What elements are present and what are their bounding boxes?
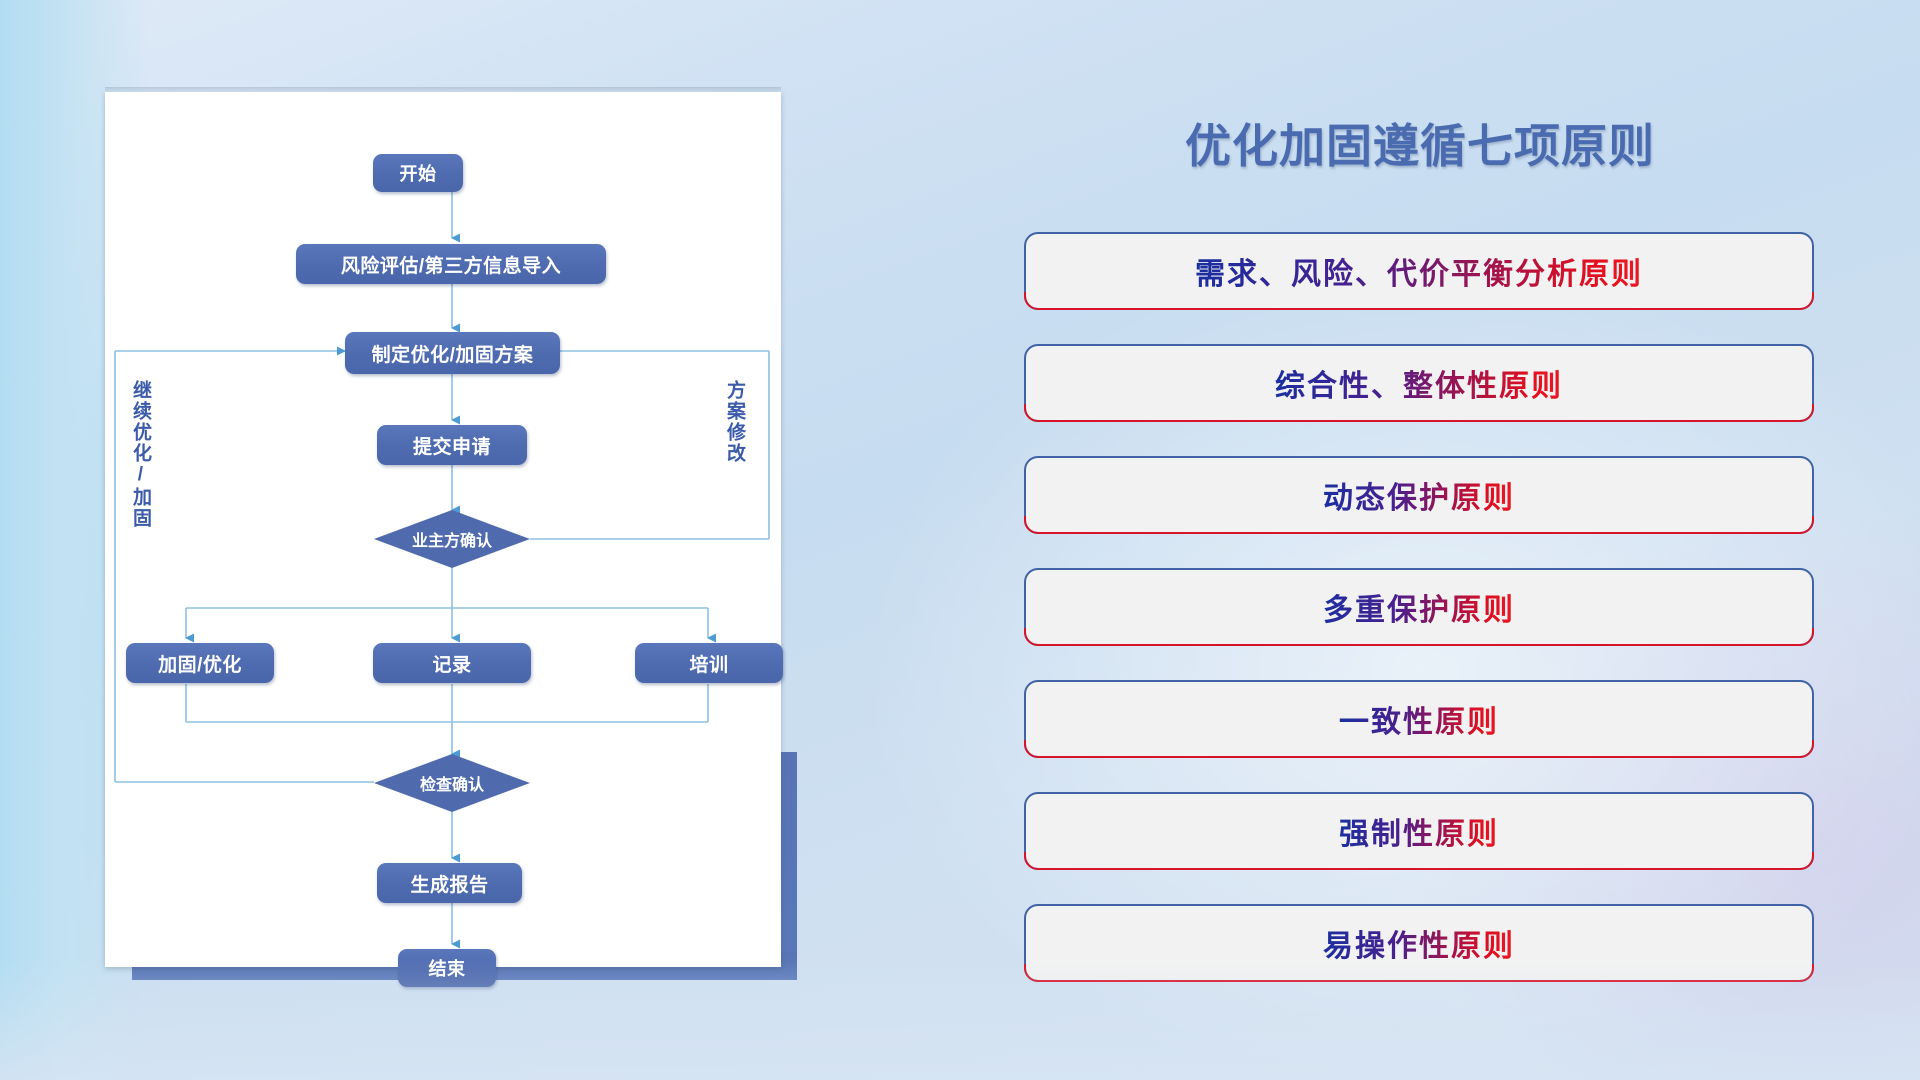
principle-label: 多重保护原则 <box>1323 585 1515 629</box>
flow-node-owner-confirm[interactable]: 业主方确认 <box>374 510 530 568</box>
flow-node-label: 制定优化/加固方案 <box>372 340 534 367</box>
edge-label-continue-optimize: 继续优化/加固 <box>130 380 150 529</box>
principle-item[interactable]: 需求、风险、代价平衡分析原则 <box>1024 232 1814 310</box>
flow-node-label: 加固/优化 <box>158 650 242 677</box>
principle-label: 易操作性原则 <box>1323 921 1515 965</box>
flow-node-label: 培训 <box>689 650 728 677</box>
principle-label: 综合性、整体性原则 <box>1275 361 1563 405</box>
flow-node-label: 开始 <box>400 160 437 186</box>
flowchart-card: 开始 风险评估/第三方信息导入 制定优化/加固方案 提交申请 业主方确认 加固/… <box>105 92 781 967</box>
edge-label-plan-revision: 方案修改 <box>724 380 744 464</box>
principles-list: 需求、风险、代价平衡分析原则 综合性、整体性原则 动态保护原则 多重保护原则 一… <box>1024 232 1814 1016</box>
principles-panel-title: 优化加固遵循七项原则 <box>1020 110 1820 176</box>
principle-label: 需求、风险、代价平衡分析原则 <box>1195 249 1643 293</box>
flow-node-reinforce-optimize[interactable]: 加固/优化 <box>126 643 274 683</box>
flow-node-training[interactable]: 培训 <box>635 643 783 683</box>
flow-node-end[interactable]: 结束 <box>398 949 496 987</box>
flow-node-risk-assessment[interactable]: 风险评估/第三方信息导入 <box>296 244 606 284</box>
flow-node-check-confirm[interactable]: 检查确认 <box>374 754 530 812</box>
flowchart: 开始 风险评估/第三方信息导入 制定优化/加固方案 提交申请 业主方确认 加固/… <box>105 92 781 967</box>
flow-node-label: 风险评估/第三方信息导入 <box>341 251 561 278</box>
principle-item[interactable]: 易操作性原则 <box>1024 904 1814 982</box>
flow-node-generate-report[interactable]: 生成报告 <box>377 863 522 903</box>
principle-label: 动态保护原则 <box>1323 473 1515 517</box>
principle-item[interactable]: 多重保护原则 <box>1024 568 1814 646</box>
slide-background: 开始 风险评估/第三方信息导入 制定优化/加固方案 提交申请 业主方确认 加固/… <box>0 0 1920 1080</box>
principle-item[interactable]: 一致性原则 <box>1024 680 1814 758</box>
flow-node-label: 检查确认 <box>420 771 484 795</box>
principle-item[interactable]: 综合性、整体性原则 <box>1024 344 1814 422</box>
flow-node-label: 记录 <box>432 650 471 677</box>
principle-label: 强制性原则 <box>1339 809 1499 853</box>
flow-node-label: 提交申请 <box>413 432 491 459</box>
flow-node-record[interactable]: 记录 <box>373 643 531 683</box>
flow-node-submit-application[interactable]: 提交申请 <box>377 425 527 465</box>
principle-label: 一致性原则 <box>1339 697 1499 741</box>
flow-node-label: 生成报告 <box>410 870 488 897</box>
principle-item[interactable]: 动态保护原则 <box>1024 456 1814 534</box>
flow-node-label: 结束 <box>429 955 466 981</box>
flow-node-start[interactable]: 开始 <box>373 154 463 192</box>
flow-node-make-plan[interactable]: 制定优化/加固方案 <box>345 332 560 374</box>
principle-item[interactable]: 强制性原则 <box>1024 792 1814 870</box>
flow-node-label: 业主方确认 <box>412 527 492 551</box>
